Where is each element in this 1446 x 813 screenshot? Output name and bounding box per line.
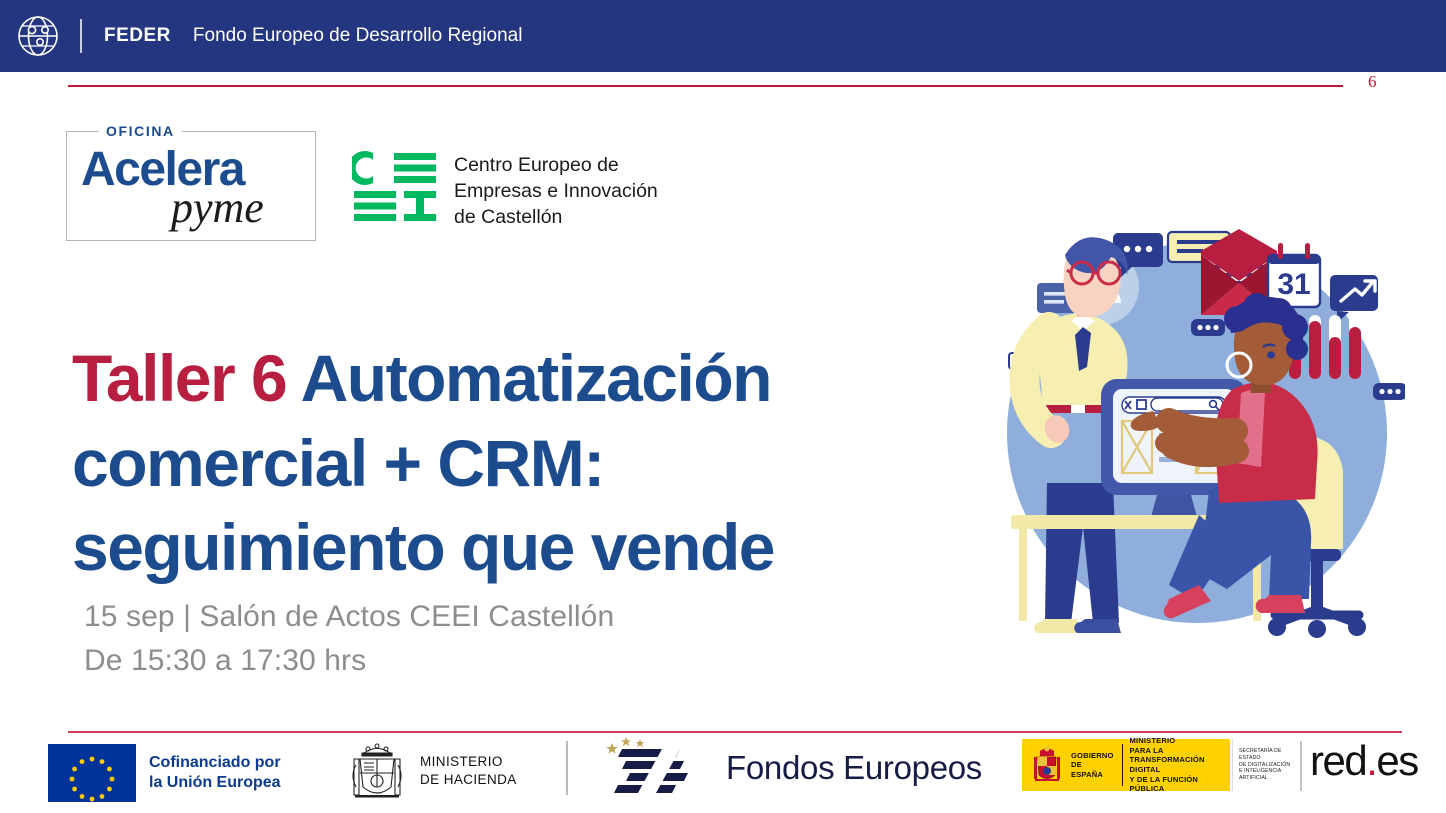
bottom-red-rule	[68, 731, 1402, 733]
eu-line-1: Cofinanciado por	[149, 753, 281, 773]
ministerio-transformacion-text-block: MINISTERIO PARA LA TRANSFORMACIÓN DIGITA…	[1130, 736, 1230, 793]
ministerio-hacienda-logo: MINISTERIO DE HACIENDA	[346, 739, 517, 803]
event-details: 15 sep | Salón de Actos CEEI Castellón D…	[84, 595, 614, 683]
feder-full-name: Fondo Europeo de Desarrollo Regional	[193, 25, 523, 47]
feder-abbr: FEDER	[104, 25, 171, 47]
globe-network-icon	[16, 14, 60, 58]
gobierno-inner-divider	[1122, 744, 1123, 786]
event-time: De 15:30 a 17:30 hrs	[84, 639, 614, 683]
ceei-line-1: Centro Europeo de	[454, 152, 658, 178]
ceei-line-3: de Castellón	[454, 204, 658, 230]
ministerio-line-1: MINISTERIO	[1130, 736, 1230, 746]
fondos-europeos-label: Fondos Europeos	[726, 749, 982, 787]
gobierno-espana-logo: GOBIERNO DE ESPAÑA MINISTERIO PARA LA TR…	[1022, 739, 1230, 791]
footer-divider-2	[1300, 741, 1302, 791]
event-date-venue: 15 sep | Salón de Actos CEEI Castellón	[84, 595, 614, 639]
secretaria-line-2: DE DIGITALIZACIÓN	[1239, 762, 1297, 769]
acelera-oficina-label: OFICINA	[99, 123, 182, 139]
two-people-at-desk-crm-illustration: 31	[985, 215, 1405, 655]
ministerio-line-3: Y DE LA FUNCIÓN PÚBLICA	[1130, 775, 1230, 794]
footer-divider-1	[566, 741, 568, 795]
redes-dot: .	[1366, 737, 1376, 784]
acelera-pyme-logo: OFICINA Acelera pyme	[66, 131, 316, 241]
eu-text-block: Cofinanciado por la Unión Europea	[149, 753, 281, 794]
header-divider	[80, 19, 82, 53]
secretaria-estado-logo: SECRETARÍA DE ESTADO DE DIGITALIZACIÓN E…	[1232, 739, 1297, 791]
fondos-europeos-stripes-icon	[604, 737, 708, 799]
top-red-rule	[68, 85, 1343, 87]
redes-part-2: es	[1376, 737, 1417, 784]
redes-logo: red.es	[1310, 740, 1418, 782]
eu-flag-icon	[48, 744, 136, 802]
calendar-day-label: 31	[1277, 268, 1310, 301]
title-workshop-number: Taller 6	[72, 341, 286, 415]
fondos-europeos-logo: Fondos Europeos	[604, 737, 982, 799]
feder-header-band: FEDER Fondo Europeo de Desarrollo Region…	[0, 0, 1446, 72]
ministerio-line-2: PARA LA TRANSFORMACIÓN DIGITAL	[1130, 746, 1230, 775]
gobierno-line-2: DE ESPAÑA	[1071, 760, 1114, 779]
gobierno-text-block: GOBIERNO DE ESPAÑA	[1071, 751, 1114, 780]
poster-canvas: FEDER Fondo Europeo de Desarrollo Region…	[0, 0, 1446, 813]
logo-row: OFICINA Acelera pyme	[66, 131, 658, 241]
hacienda-text-block: MINISTERIO DE HACIENDA	[420, 753, 517, 788]
secretaria-text-block: SECRETARÍA DE ESTADO DE DIGITALIZACIÓN E…	[1239, 748, 1297, 782]
ceei-line-2: Empresas e Innovación	[454, 178, 658, 204]
secretaria-line-1: SECRETARÍA DE ESTADO	[1239, 748, 1297, 762]
ceei-mark-icon	[352, 151, 438, 223]
page-title: Taller 6 Automatización comercial + CRM:…	[72, 336, 972, 589]
ceei-text-block: Centro Europeo de Empresas e Innovación …	[454, 151, 658, 230]
ceei-logo: Centro Europeo de Empresas e Innovación …	[352, 151, 658, 230]
spain-coat-of-arms-icon	[1030, 745, 1064, 785]
redes-part-1: red	[1310, 737, 1366, 784]
eu-line-2: la Unión Europea	[149, 773, 281, 793]
rule-corner-mark: 6	[1368, 72, 1377, 92]
hacienda-line-1: MINISTERIO	[420, 753, 517, 771]
spain-coat-of-arms-icon	[346, 739, 408, 803]
secretaria-line-3: E INTELIGENCIA ARTIFICIAL	[1239, 768, 1297, 782]
gobierno-line-1: GOBIERNO	[1071, 751, 1114, 761]
pyme-wordmark: pyme	[171, 186, 264, 230]
eu-cofinanced-logo: Cofinanciado por la Unión Europea	[48, 744, 281, 802]
hacienda-line-2: DE HACIENDA	[420, 771, 517, 789]
